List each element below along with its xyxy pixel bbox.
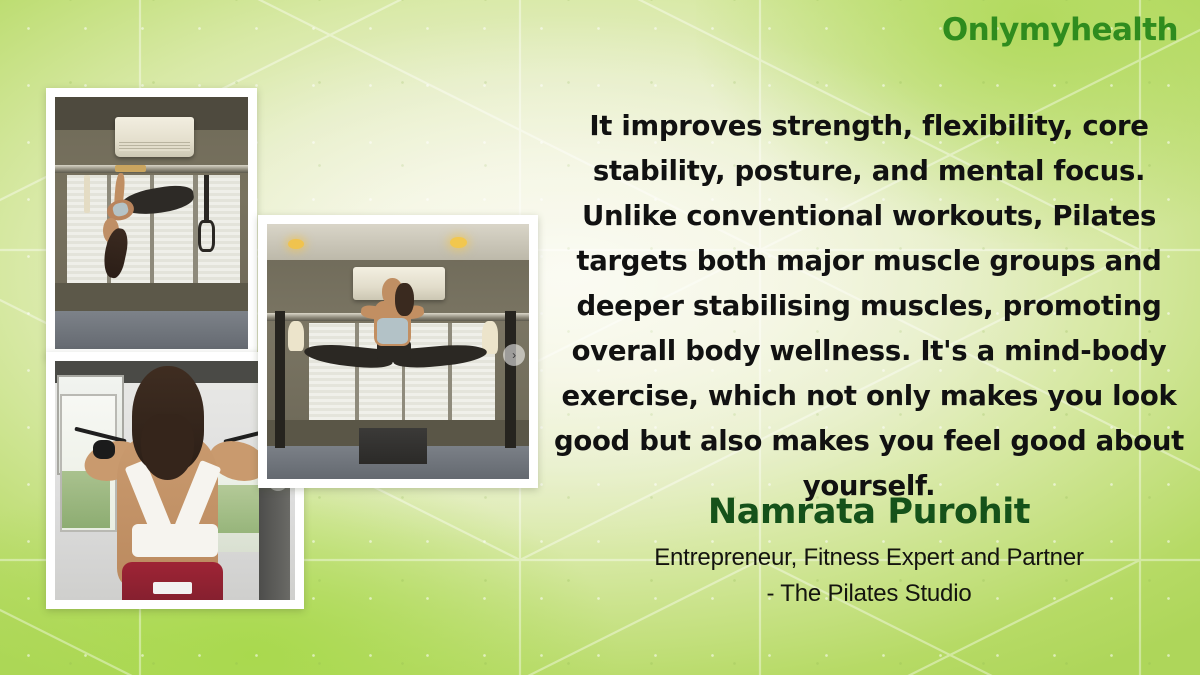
photo-inverted-hang[interactable] — [46, 88, 257, 358]
quote-text: It improves strength, flexibility, core … — [548, 104, 1190, 509]
onlymyhealth-logo[interactable]: Onlymyhealth — [942, 12, 1178, 48]
photo-splits[interactable]: › — [258, 215, 538, 488]
quote-card: Onlymyhealth — [0, 0, 1200, 675]
photo-inverted-hang-image — [55, 97, 248, 349]
attribution-role-line-1: Entrepreneur, Fitness Expert and Partner — [548, 540, 1190, 576]
chevron-right-icon[interactable]: › — [503, 344, 525, 366]
photo-splits-image: › — [267, 224, 529, 479]
attribution-role-line-2: - The Pilates Studio — [548, 576, 1190, 612]
attribution-role: Entrepreneur, Fitness Expert and Partner… — [548, 540, 1190, 612]
attribution-name: Namrata Purohit — [548, 492, 1190, 532]
